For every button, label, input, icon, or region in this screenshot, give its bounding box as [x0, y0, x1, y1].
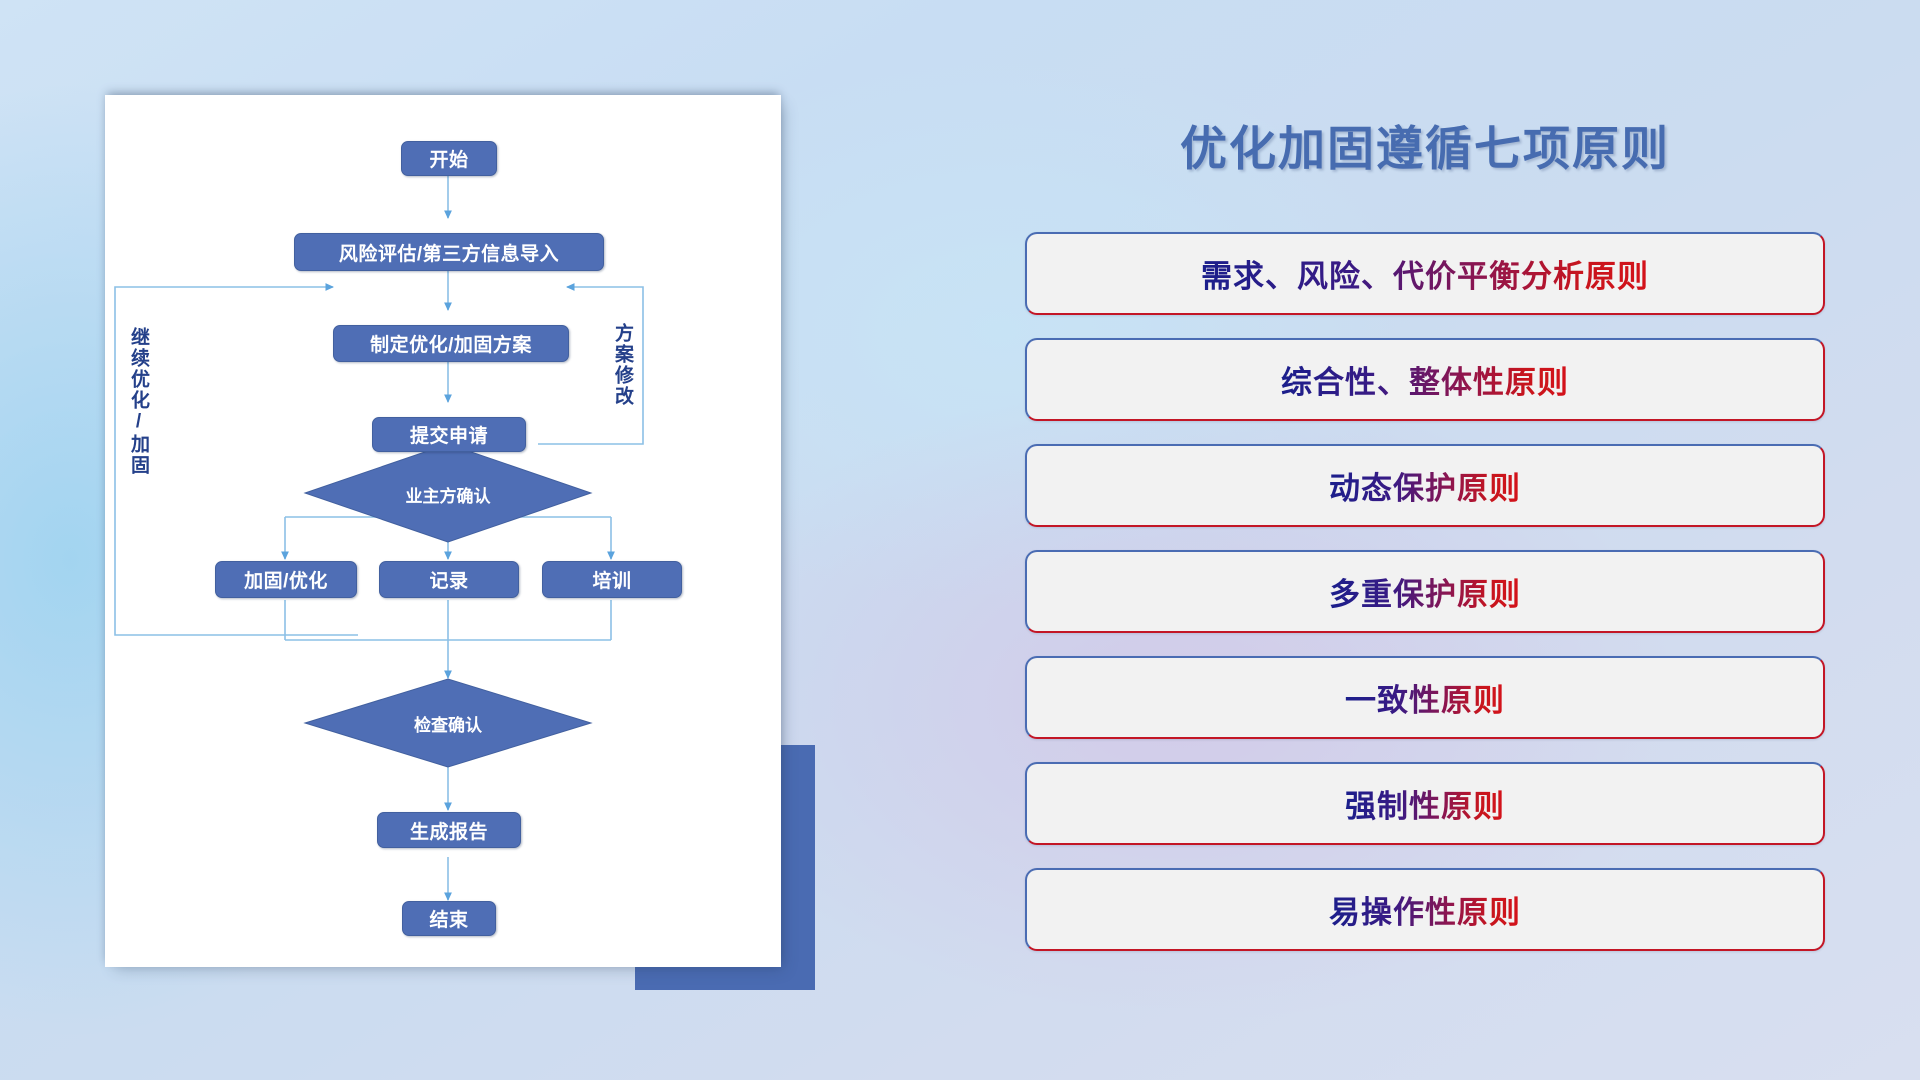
flow-node-reinforce-label: 加固/优化 — [244, 566, 328, 593]
flow-node-training[interactable]: 培训 — [542, 561, 682, 598]
principle-item-label: 多重保护原则 — [1329, 569, 1521, 614]
flow-node-submit[interactable]: 提交申请 — [372, 417, 526, 452]
right-panel-title: 优化加固遵循七项原则 — [1030, 110, 1820, 179]
principles-list: 需求、风险、代价平衡分析原则 综合性、整体性原则 动态保护原则 多重保护原则 一… — [1025, 232, 1825, 974]
flow-node-start[interactable]: 开始 — [401, 141, 497, 176]
decision-owner-shape — [305, 444, 591, 542]
flow-node-submit-label: 提交申请 — [410, 421, 488, 448]
flow-node-plan[interactable]: 制定优化/加固方案 — [333, 325, 569, 362]
flow-node-end[interactable]: 结束 — [402, 901, 496, 936]
flow-node-training-label: 培训 — [592, 566, 631, 593]
principle-item-label: 易操作性原则 — [1329, 887, 1521, 932]
flow-node-generate-report[interactable]: 生成报告 — [377, 812, 521, 848]
flow-node-record[interactable]: 记录 — [379, 561, 519, 598]
flow-edge-label-right-loop: 方案修改 — [613, 323, 632, 407]
principle-item[interactable]: 综合性、整体性原则 — [1025, 338, 1825, 421]
principle-item[interactable]: 动态保护原则 — [1025, 444, 1825, 527]
flow-node-record-label: 记录 — [429, 566, 468, 593]
principle-item-label: 动态保护原则 — [1329, 463, 1521, 508]
decision-check-shape — [305, 679, 591, 767]
flow-node-generate-report-label: 生成报告 — [410, 817, 488, 844]
flow-node-reinforce[interactable]: 加固/优化 — [215, 561, 357, 598]
flow-node-end-label: 结束 — [429, 905, 468, 932]
principle-item[interactable]: 易操作性原则 — [1025, 868, 1825, 951]
principle-item[interactable]: 一致性原则 — [1025, 656, 1825, 739]
flow-node-start-label: 开始 — [429, 145, 468, 172]
principle-item[interactable]: 强制性原则 — [1025, 762, 1825, 845]
slide-root: 开始 风险评估/第三方信息导入 制定优化/加固方案 提交申请 业主方确认 加固/… — [0, 0, 1920, 1080]
flow-node-plan-label: 制定优化/加固方案 — [370, 330, 532, 357]
flow-node-risk-assessment-label: 风险评估/第三方信息导入 — [339, 239, 559, 266]
principle-item-label: 强制性原则 — [1345, 781, 1505, 826]
principle-item[interactable]: 多重保护原则 — [1025, 550, 1825, 633]
principle-item-label: 综合性、整体性原则 — [1281, 357, 1569, 402]
principle-item-label: 需求、风险、代价平衡分析原则 — [1201, 251, 1649, 296]
principle-item[interactable]: 需求、风险、代价平衡分析原则 — [1025, 232, 1825, 315]
flowchart-card: 开始 风险评估/第三方信息导入 制定优化/加固方案 提交申请 业主方确认 加固/… — [105, 95, 781, 967]
flow-node-risk-assessment[interactable]: 风险评估/第三方信息导入 — [294, 233, 604, 271]
principle-item-label: 一致性原则 — [1345, 675, 1505, 720]
flow-edge-label-left-loop: 继续优化/加固 — [129, 327, 148, 476]
